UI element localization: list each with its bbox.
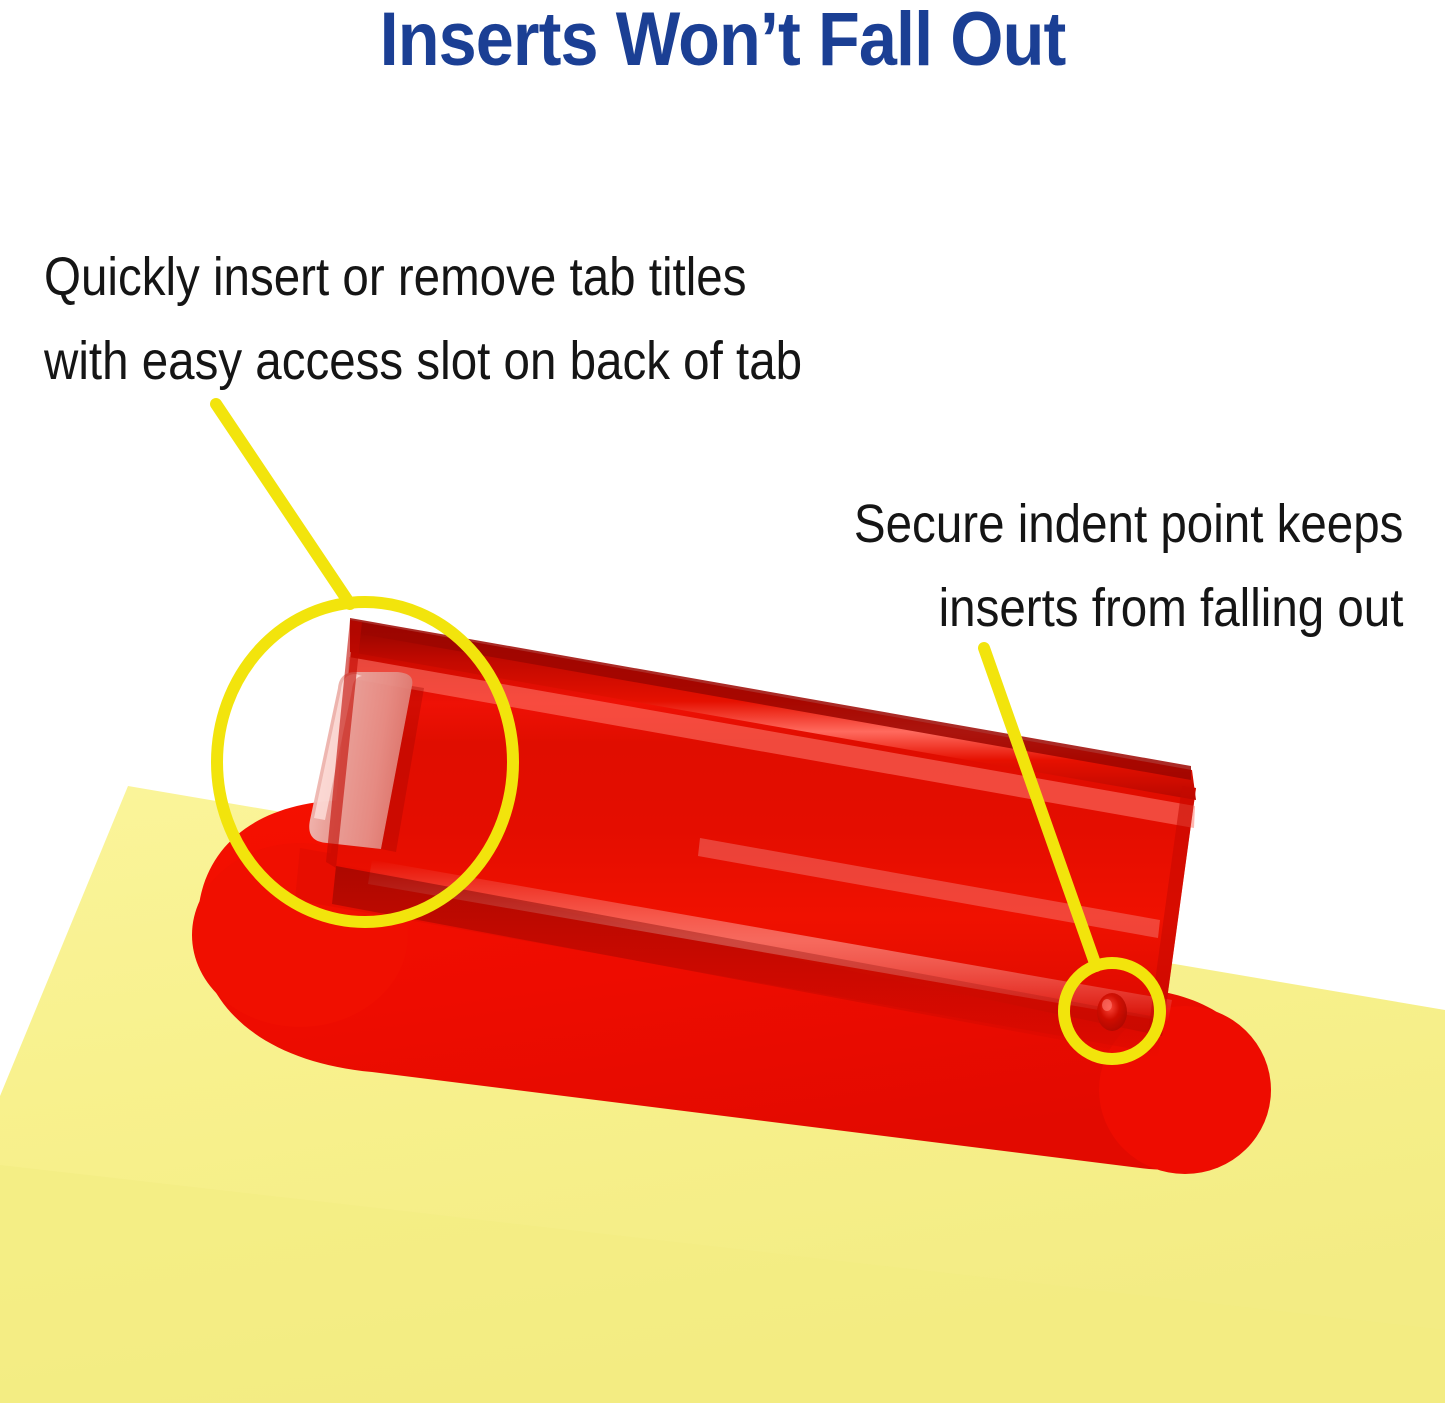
callout-text-right: Secure indent point keeps inserts from f… — [853, 482, 1403, 650]
indent-point-dot-highlight — [1102, 999, 1112, 1011]
product-photo-svg — [0, 0, 1445, 1403]
callout-left-line-2: with easy access slot on back of tab — [44, 319, 802, 403]
callout-text-left: Quickly insert or remove tab titles with… — [44, 235, 802, 403]
callout-left-line-1: Quickly insert or remove tab titles — [44, 235, 802, 319]
callout-right-line-1: Secure indent point keeps — [853, 482, 1403, 566]
product-photo — [0, 0, 1445, 1403]
page-title: Inserts Won’t Fall Out — [72, 0, 1373, 84]
indent-point-dot — [1097, 993, 1127, 1031]
product-feature-infographic: Inserts Won’t Fall Out Quickly insert or… — [0, 0, 1445, 1403]
callout-right-line-2: inserts from falling out — [853, 566, 1403, 650]
